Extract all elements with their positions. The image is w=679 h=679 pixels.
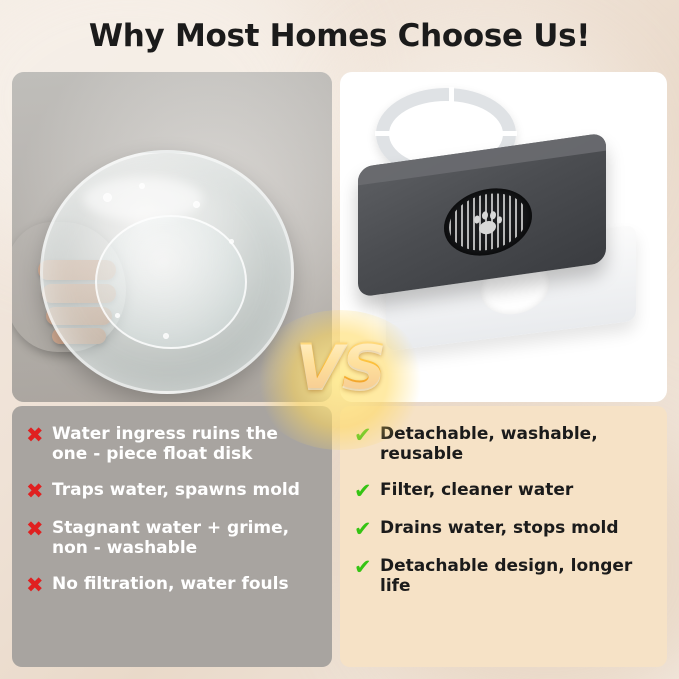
x-mark-icon: ✖: [26, 425, 52, 446]
water-bubble: [163, 333, 169, 339]
list-item: ✔ Filter, cleaner water: [354, 480, 653, 502]
pros-list: ✔ Detachable, washable, reusable ✔ Filte…: [340, 406, 667, 667]
page-title: Why Most Homes Choose Us!: [0, 18, 679, 54]
water-bubble: [115, 313, 120, 318]
list-item: ✖ No filtration, water fouls: [26, 574, 318, 596]
x-mark-icon: ✖: [26, 481, 52, 502]
cons-item-label: Traps water, spawns mold: [52, 480, 300, 500]
water-bubble: [193, 201, 200, 208]
pros-item-label: Detachable design, longer life: [380, 556, 653, 596]
paw-toe: [490, 211, 496, 220]
list-item: ✔ Detachable design, longer life: [354, 556, 653, 596]
comparison-poster: Why Most Homes Choose Us!: [0, 0, 679, 679]
cons-item-label: Stagnant water + grime, non - washable: [52, 518, 318, 558]
list-item: ✖ Traps water, spawns mold: [26, 480, 318, 502]
check-mark-icon: ✔: [354, 557, 380, 578]
paw-print-icon: [472, 209, 502, 237]
pros-item-label: Filter, cleaner water: [380, 480, 573, 500]
paw-pad: [479, 220, 496, 235]
pros-item-label: Drains water, stops mold: [380, 518, 619, 538]
paw-toe: [497, 216, 502, 224]
paw-toe: [474, 215, 480, 224]
cons-item-label: No filtration, water fouls: [52, 574, 289, 594]
paw-toe: [482, 211, 488, 220]
vs-badge: VS: [252, 330, 428, 403]
x-mark-icon: ✖: [26, 575, 52, 596]
list-item: ✖ Stagnant water + grime, non - washable: [26, 518, 318, 558]
cons-list: ✖ Water ingress ruins the one - piece fl…: [12, 406, 332, 667]
list-item: ✖ Water ingress ruins the one - piece fl…: [26, 424, 318, 464]
list-item: ✔ Drains water, stops mold: [354, 518, 653, 540]
check-mark-icon: ✔: [354, 481, 380, 502]
water-bubble: [139, 183, 145, 189]
pros-item-label: Detachable, washable, reusable: [380, 424, 653, 464]
x-mark-icon: ✖: [26, 519, 52, 540]
water-bubble: [103, 193, 112, 202]
ring-notch: [449, 87, 454, 103]
water-bubble: [229, 239, 234, 244]
check-mark-icon: ✔: [354, 519, 380, 540]
disk-inner-ring: [95, 215, 247, 349]
ring-notch: [375, 131, 391, 136]
ring-notch: [501, 131, 517, 136]
